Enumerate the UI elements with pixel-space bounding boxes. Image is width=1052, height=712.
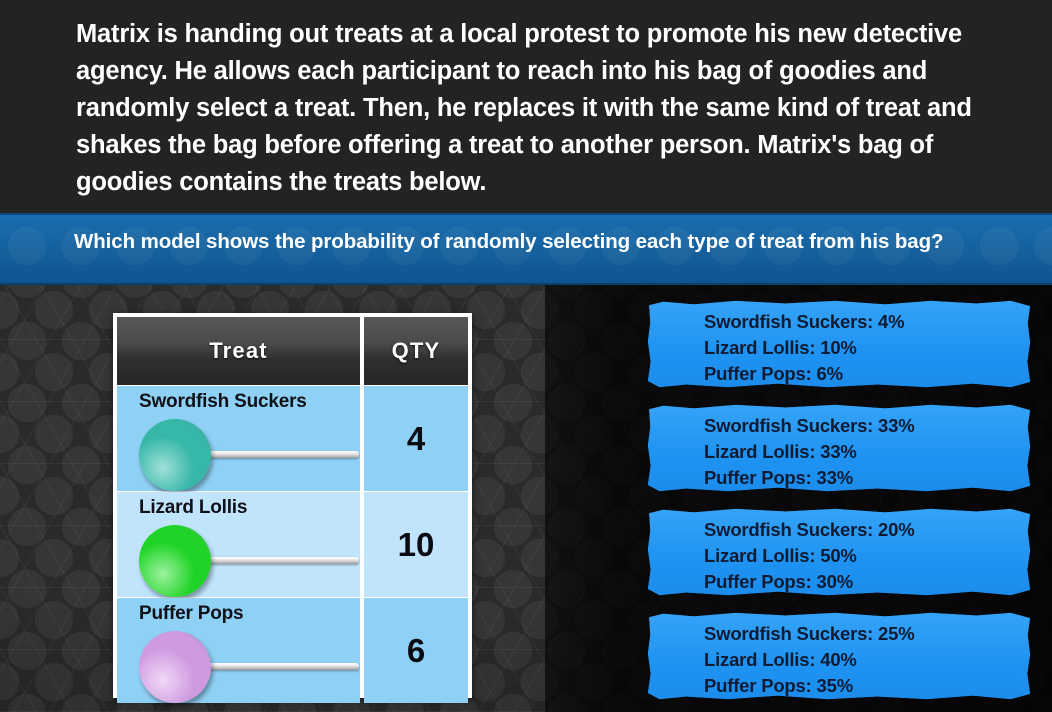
lollipop-puffer-pop [139, 631, 360, 703]
treat-name: Puffer Pops [139, 603, 360, 625]
lollipop-swordfish-sucker [139, 419, 360, 491]
option-line: Swordfish Suckers: 25% [704, 621, 1020, 647]
option-line: Swordfish Suckers: 33% [704, 413, 1020, 439]
treat-cell: Puffer Pops [117, 598, 360, 703]
option-line: Puffer Pops: 6% [704, 361, 1020, 387]
table-row: Puffer Pops 6 [117, 598, 468, 703]
lollipop-stick-icon [197, 663, 359, 670]
prompt-text: Matrix is handing out treats at a local … [76, 16, 1024, 201]
answer-option-3[interactable]: Swordfish Suckers: 20% Lizard Lollis: 50… [648, 508, 1030, 596]
table-body: Swordfish Suckers 4 Lizard Lollis 10 [117, 385, 468, 703]
treat-cell: Swordfish Suckers [117, 386, 360, 491]
option-line: Lizard Lollis: 33% [704, 439, 1020, 465]
treat-cell: Lizard Lollis [117, 492, 360, 597]
question-text: Which model shows the probability of ran… [74, 225, 943, 259]
answer-option-2[interactable]: Swordfish Suckers: 33% Lizard Lollis: 33… [648, 404, 1030, 492]
option-line: Swordfish Suckers: 20% [704, 517, 1020, 543]
lollipop-ball-icon [139, 525, 211, 597]
qty-cell: 10 [364, 492, 468, 597]
column-header-qty: QTY [364, 317, 468, 385]
option-line: Lizard Lollis: 40% [704, 647, 1020, 673]
lollipop-stick-icon [197, 557, 359, 564]
option-line: Lizard Lollis: 50% [704, 543, 1020, 569]
lollipop-stick-icon [197, 451, 359, 458]
lollipop-lizard-lolli [139, 525, 360, 597]
table-row: Lizard Lollis 10 [117, 492, 468, 597]
option-line: Lizard Lollis: 10% [704, 335, 1020, 361]
treat-name: Swordfish Suckers [139, 391, 360, 413]
answer-option-1[interactable]: Swordfish Suckers: 4% Lizard Lollis: 10%… [648, 300, 1030, 388]
question-panel: Which model shows the probability of ran… [0, 213, 1052, 285]
activity-screen: Matrix is handing out treats at a local … [0, 0, 1052, 712]
treat-table: Treat QTY Swordfish Suckers 4 Lizard Lol… [113, 313, 472, 698]
qty-cell: 4 [364, 386, 468, 491]
column-header-treat: Treat [117, 317, 360, 385]
prompt-panel: Matrix is handing out treats at a local … [0, 0, 1052, 213]
answer-option-4[interactable]: Swordfish Suckers: 25% Lizard Lollis: 40… [648, 612, 1030, 700]
lollipop-ball-icon [139, 631, 211, 703]
qty-cell: 6 [364, 598, 468, 703]
answer-options: Swordfish Suckers: 4% Lizard Lollis: 10%… [648, 300, 1030, 712]
table-row: Swordfish Suckers 4 [117, 386, 468, 491]
option-line: Puffer Pops: 35% [704, 673, 1020, 699]
option-line: Puffer Pops: 30% [704, 569, 1020, 595]
treat-name: Lizard Lollis [139, 497, 360, 519]
option-line: Swordfish Suckers: 4% [704, 309, 1020, 335]
lollipop-ball-icon [139, 419, 211, 491]
option-line: Puffer Pops: 33% [704, 465, 1020, 491]
table-header-row: Treat QTY [117, 317, 468, 385]
